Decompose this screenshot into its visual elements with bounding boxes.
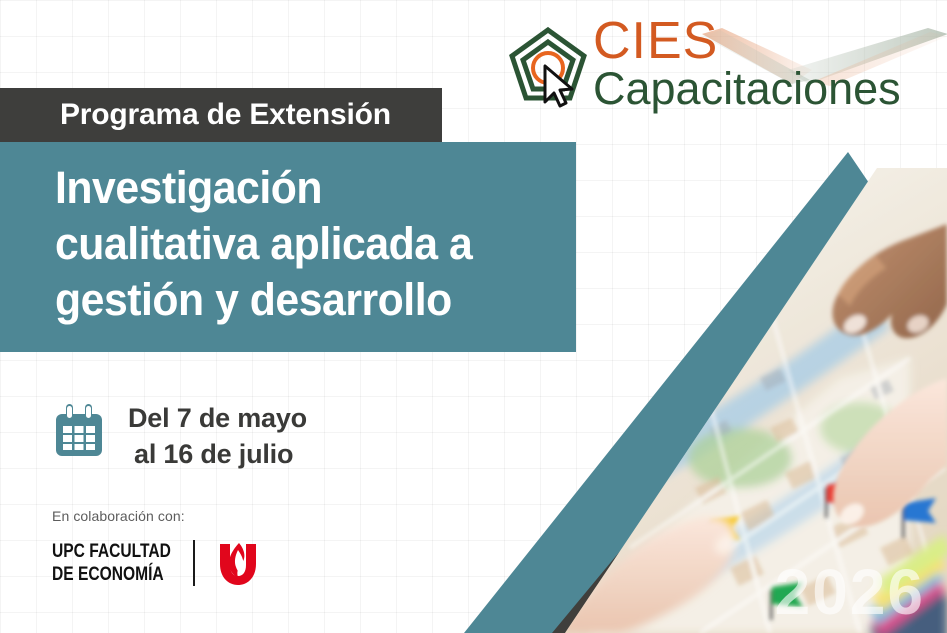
date-start-line: Del 7 de mayo <box>128 400 307 436</box>
brand-name-primary: CIES <box>593 18 901 64</box>
upc-flame-icon <box>213 538 263 588</box>
course-dates: Del 7 de mayo al 16 de julio <box>50 398 307 472</box>
cies-logo-text: CIES Capacitaciones <box>593 18 901 114</box>
partner-divider <box>193 540 195 586</box>
program-label: Programa de Extensión <box>0 98 391 132</box>
date-text-group: Del 7 de mayo al 16 de julio <box>128 398 307 472</box>
partner-name-line-1: UPC FACULTAD <box>52 540 171 563</box>
cies-logo: CIES Capacitaciones <box>505 22 905 122</box>
brand-name-secondary: Capacitaciones <box>593 64 901 114</box>
promotional-banner: CIES Capacitaciones Programa de Extensió… <box>0 0 947 633</box>
collaboration-label: En colaboración con: <box>52 508 263 524</box>
date-end-line: al 16 de julio <box>128 436 307 472</box>
collaboration-block: En colaboración con: UPC FACULTAD DE ECO… <box>52 508 263 588</box>
course-photo-composition: 2026 <box>440 128 947 633</box>
partner-name: UPC FACULTAD DE ECONOMÍA <box>52 540 171 586</box>
calendar-icon <box>50 402 108 460</box>
partner-row: UPC FACULTAD DE ECONOMÍA <box>52 538 263 588</box>
program-eyebrow-bar: Programa de Extensión <box>0 88 442 142</box>
cies-pentagon-cursor-logo <box>505 24 591 110</box>
partner-name-line-2: DE ECONOMÍA <box>52 563 171 586</box>
